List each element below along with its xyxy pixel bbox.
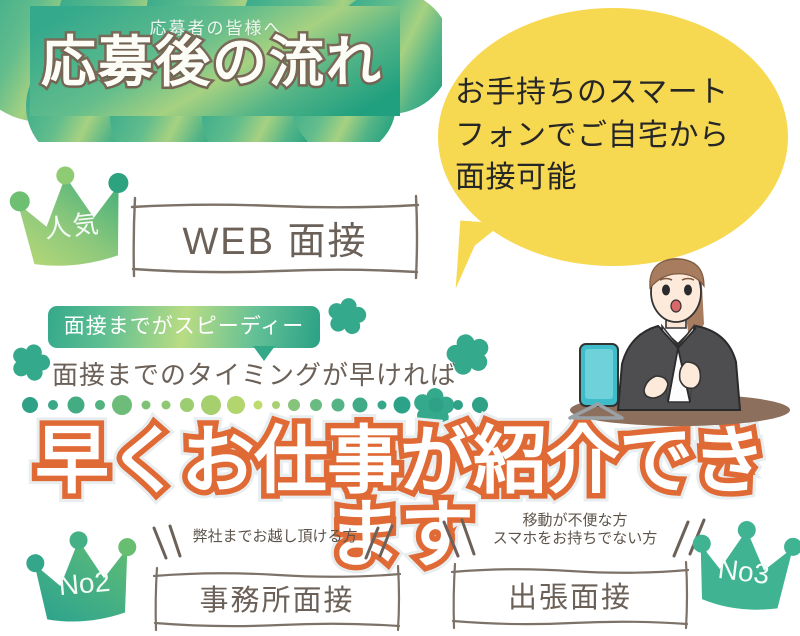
timing-subtitle: 面接までのタイミングが早ければ	[52, 355, 472, 392]
crown-badge-no3: No3	[687, 518, 800, 620]
visit-interview-annotation: 移動が不便な方 スマホをお持ちでない方	[450, 512, 700, 549]
web-interview-box: WEB 面接	[130, 198, 420, 276]
visit-interview-box: 出張面接	[450, 564, 690, 626]
callout-line-1: お手持ちのスマート	[455, 72, 785, 115]
flower-icon	[445, 330, 491, 376]
speed-bubble: 面接までがスピーディー	[48, 306, 320, 348]
office-annotation-line-1: 弊社までお越し頂ける方	[160, 528, 390, 546]
person-illustration	[548, 252, 796, 432]
smartphone-callout-text: お手持ちのスマート フォンでご自宅から 面接可能	[455, 72, 785, 200]
infographic-canvas: 応募者の皆様へ 応募後の流れ お手持ちのスマート フォンでご自宅から 面接可能 …	[0, 0, 800, 636]
visit-annotation-line-2: スマホをお持ちでない方	[450, 530, 700, 548]
office-interview-box: 事務所面接	[152, 568, 402, 628]
office-interview-label: 事務所面接	[152, 568, 402, 628]
speed-bubble-label: 面接までがスピーディー	[48, 306, 320, 348]
dotted-divider	[22, 392, 492, 418]
office-interview-annotation: 弊社までお越し頂ける方	[160, 528, 390, 546]
page-title: 応募後の流れ	[0, 34, 424, 92]
flower-icon	[327, 295, 366, 334]
visit-annotation-line-1: 移動が不便な方	[450, 512, 700, 530]
web-interview-label: WEB 面接	[130, 198, 420, 276]
callout-line-2: フォンでご自宅から	[455, 115, 785, 158]
crown-badge-no2: No2	[26, 529, 142, 630]
callout-line-3: 面接可能	[455, 157, 785, 200]
visit-interview-label: 出張面接	[450, 564, 690, 626]
crown-badge-popular: 人気	[7, 162, 137, 278]
flower-icon	[10, 340, 53, 383]
bubble-tail	[456, 221, 503, 292]
